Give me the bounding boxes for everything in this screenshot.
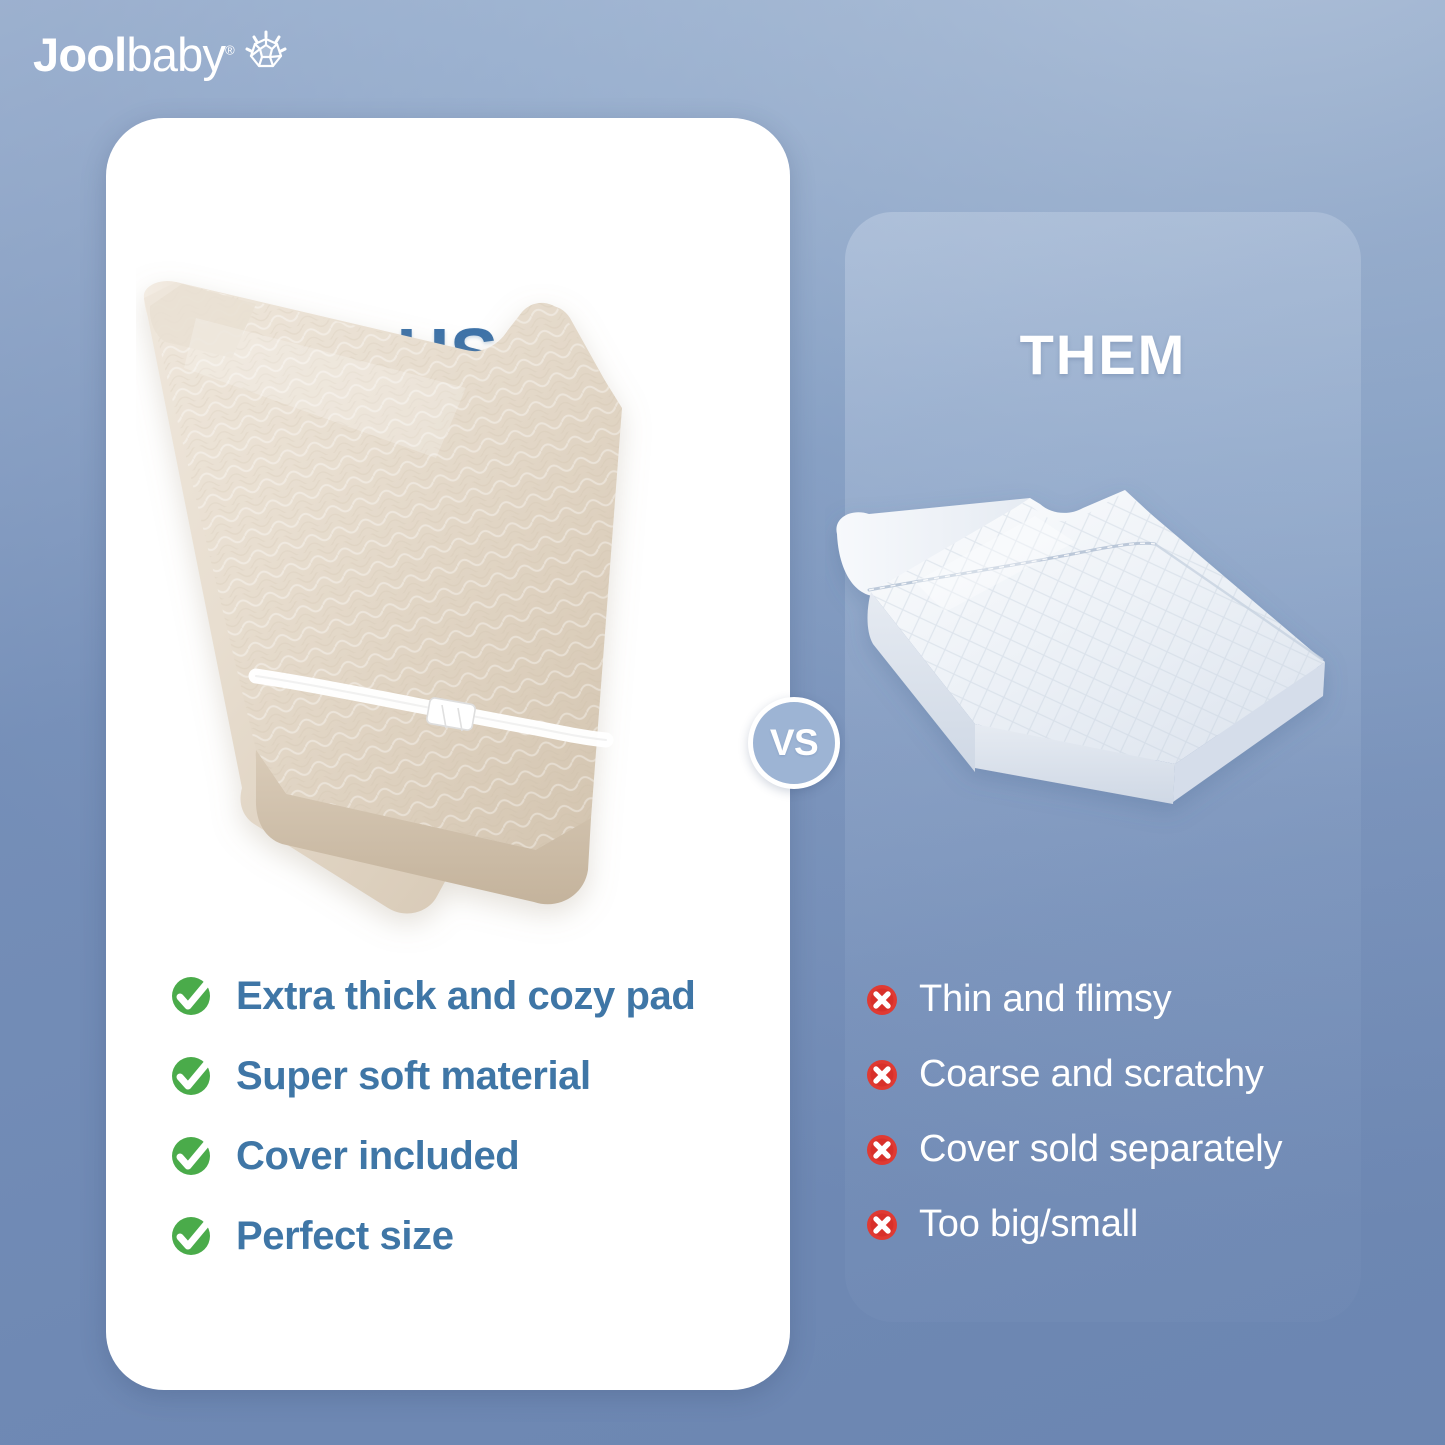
them-feature-label: Thin and flimsy: [919, 978, 1172, 1021]
them-feature-list: Thin and flimsy Coarse and scratchy: [865, 962, 1365, 1262]
registered-mark: ®: [225, 42, 234, 57]
them-feature-label: Too big/small: [919, 1203, 1138, 1246]
them-panel: THEM: [845, 212, 1361, 1322]
us-feature-label: Cover included: [236, 1134, 519, 1179]
them-product-image: [825, 472, 1365, 872]
us-feature-label: Super soft material: [236, 1054, 591, 1099]
them-feature-item: Cover sold separately: [865, 1112, 1365, 1187]
check-circle-icon: [168, 1053, 214, 1099]
vs-divider-badge: VS: [748, 697, 840, 789]
x-circle-icon: [865, 1133, 899, 1167]
them-feature-label: Cover sold separately: [919, 1128, 1282, 1171]
brand-name: Joolbaby®: [33, 31, 234, 78]
check-circle-icon: [168, 1133, 214, 1179]
us-feature-label: Perfect size: [236, 1214, 454, 1259]
them-title: THEM: [845, 322, 1361, 387]
us-feature-item: Super soft material: [168, 1036, 768, 1116]
us-feature-item: Perfect size: [168, 1196, 768, 1276]
them-feature-item: Too big/small: [865, 1187, 1365, 1262]
gem-icon: [243, 29, 289, 80]
us-feature-label: Extra thick and cozy pad: [236, 974, 695, 1019]
us-feature-list: Extra thick and cozy pad Super soft mate…: [168, 956, 768, 1276]
vs-label: VS: [770, 722, 818, 764]
x-circle-icon: [865, 1208, 899, 1242]
x-circle-icon: [865, 983, 899, 1017]
check-circle-icon: [168, 973, 214, 1019]
x-circle-icon: [865, 1058, 899, 1092]
us-product-image: [136, 258, 756, 958]
brand-name-bold: Jool: [33, 28, 126, 81]
brand-name-light: baby: [126, 28, 225, 81]
us-feature-item: Cover included: [168, 1116, 768, 1196]
us-feature-item: Extra thick and cozy pad: [168, 956, 768, 1036]
them-feature-item: Coarse and scratchy: [865, 1037, 1365, 1112]
them-feature-item: Thin and flimsy: [865, 962, 1365, 1037]
them-feature-label: Coarse and scratchy: [919, 1053, 1264, 1096]
check-circle-icon: [168, 1213, 214, 1259]
us-panel: US: [106, 118, 790, 1390]
brand-logo: Joolbaby®: [33, 29, 289, 80]
